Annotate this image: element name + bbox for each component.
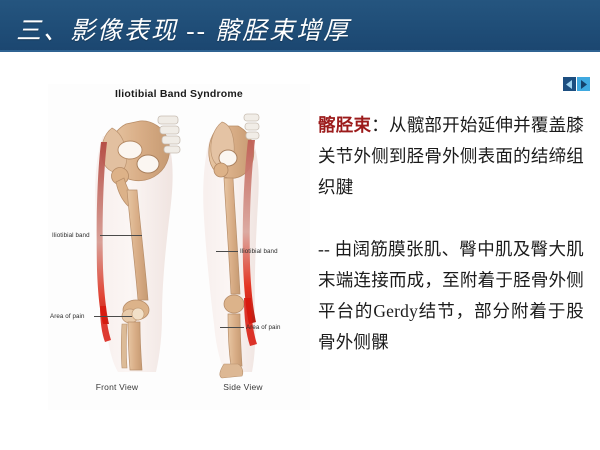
leader-line-front-pain	[94, 316, 132, 317]
prev-slide-button[interactable]	[563, 77, 576, 91]
annotation-side-iliotibial-band: Iliotibial band	[240, 248, 278, 255]
slide-body-text: 髂胫束：从髋部开始延伸并覆盖膝关节外侧到胫骨外侧表面的结缔组织腱 -- 由阔筋膜…	[318, 110, 584, 358]
chevron-right-icon	[580, 80, 587, 89]
banner-underline	[0, 50, 600, 52]
page-title: 三、影像表现 -- 髂胫束增厚	[16, 11, 350, 47]
anatomy-illustration: Iliotibial Band Syndrome	[48, 84, 310, 410]
leader-line-front-band	[100, 235, 142, 236]
caption-front-view: Front View	[62, 382, 172, 392]
paragraph-composition: -- 由阔筋膜张肌、臀中肌及臀大肌末端连接而成，至附着于胫骨外侧平台的Gerdy…	[318, 234, 584, 358]
annotation-front-iliotibial-band: Iliotibial band	[52, 232, 90, 239]
annotation-side-area-of-pain: Area of pain	[246, 324, 281, 331]
next-slide-button[interactable]	[577, 77, 590, 91]
leader-line-side-pain	[220, 327, 244, 328]
caption-side-view: Side View	[188, 382, 298, 392]
anatomy-figures-svg	[48, 84, 310, 410]
keyword-iliotibial-band: 髂胫束	[318, 115, 371, 135]
chevron-left-icon	[566, 80, 573, 89]
slide-title-banner: 三、影像表现 -- 髂胫束增厚	[0, 0, 600, 52]
paragraph-definition: 髂胫束：从髋部开始延伸并覆盖膝关节外侧到胫骨外侧表面的结缔组织腱	[318, 110, 584, 203]
slide-navigation[interactable]	[563, 77, 590, 91]
leader-line-side-band	[216, 251, 238, 252]
side-view-figure	[203, 114, 259, 378]
annotation-front-area-of-pain: Area of pain	[50, 313, 85, 320]
front-view-figure	[95, 116, 180, 372]
